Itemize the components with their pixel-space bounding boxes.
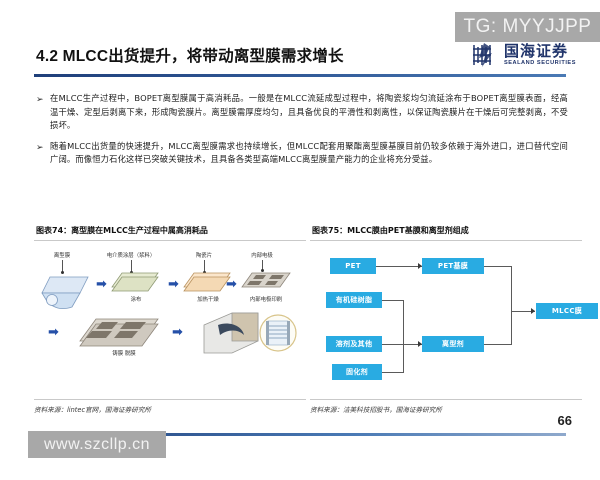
page-title: 4.2 MLCC出货提升，将带动离型膜需求增长 — [36, 44, 344, 66]
finished-capacitor-shape — [198, 307, 298, 359]
flow-connector — [511, 311, 512, 345]
figure-panel-75: 图表75：MLCC膜由PET基膜和离型剂组成 PET PET基膜 有机硅树脂 溶… — [310, 222, 582, 414]
watermark-bottom: www.szcllp.cn — [28, 431, 166, 458]
flow-connector — [382, 300, 404, 301]
page-number: 66 — [558, 413, 572, 428]
process-arrow-icon: ➡ — [168, 277, 179, 290]
paragraph: ➢ 随着MLCC出货量的快速提升，MLCC离型膜需求也持续增长，但MLCC配套用… — [36, 140, 568, 167]
diagram-label-ceramic-sheet: 陶瓷片 — [184, 251, 224, 259]
bullet-icon: ➢ — [36, 92, 50, 107]
printed-electrode-shape — [240, 267, 296, 293]
body-text: ➢ 在MLCC生产过程中，BOPET离型膜属于高消耗品。一般是在MLCC流延成型… — [36, 92, 568, 174]
figure-source: 资料来源：lintec官网，国海证券研究所 — [34, 399, 306, 414]
stacked-layers-shape — [78, 315, 166, 349]
figure-74-diagram: 离型膜 电介质涂层（浆料） 陶瓷片 内部电极 ➡ ➡ ➡ — [34, 241, 306, 384]
flow-node-release-agent[interactable]: 离型剂 — [422, 336, 484, 352]
flow-node-pet[interactable]: PET — [330, 258, 376, 274]
flow-node-solvent-other[interactable]: 溶剂及其他 — [326, 336, 382, 352]
figure-panel-74: 图表74：离型膜在MLCC生产过程中属高消耗品 离型膜 电介质涂层（浆料） 陶瓷… — [34, 222, 306, 414]
paragraph-text: 随着MLCC出货量的快速提升，MLCC离型膜需求也持续增长，但MLCC配套用聚酯… — [50, 140, 568, 167]
diagram-step-casting-stripping: 铸膜 脱膜 — [96, 349, 152, 357]
paragraph: ➢ 在MLCC生产过程中，BOPET离型膜属于高消耗品。一般是在MLCC流延成型… — [36, 92, 568, 133]
figure-caption: 图表75：MLCC膜由PET基膜和离型剂组成 — [310, 222, 582, 241]
diagram-step-coating: 涂布 — [116, 295, 156, 303]
diagram-step-electrode-printing: 内部电极印刷 — [238, 295, 294, 303]
diagram-label-inner-electrode: 内部电极 — [240, 251, 284, 259]
flow-connector — [484, 344, 512, 345]
flow-connector — [403, 300, 404, 344]
diagram-label-dielectric-coating: 电介质涂层（浆料） — [94, 251, 168, 259]
watermark-top: TG: MYYJJPP — [455, 12, 600, 42]
figure-source: 资料来源：洁美科技招股书，国海证券研究所 — [310, 399, 582, 414]
flow-node-mlcc-film[interactable]: MLCC膜 — [536, 303, 598, 319]
paragraph-text: 在MLCC生产过程中，BOPET离型膜属于高消耗品。一般是在MLCC流延成型过程… — [50, 92, 568, 133]
bullet-icon: ➢ — [36, 140, 50, 155]
process-arrow-icon: ➡ — [172, 325, 183, 338]
brand-logo: 国海证券 SEALAND SECURITIES — [470, 41, 576, 69]
flow-connector — [511, 266, 512, 311]
process-arrow-icon: ➡ — [96, 277, 107, 290]
diagram-label-release-film: 离型膜 — [42, 251, 82, 259]
flow-connector — [382, 372, 404, 373]
figure-caption: 图表74：离型膜在MLCC生产过程中属高消耗品 — [34, 222, 306, 241]
flow-connector — [484, 266, 512, 267]
process-arrow-icon: ➡ — [48, 325, 59, 338]
title-underline-rule — [34, 74, 566, 77]
ceramic-sheet-shape — [182, 269, 234, 293]
flow-connector — [403, 344, 404, 373]
flow-connector — [382, 344, 422, 345]
sealand-logo-icon — [470, 41, 498, 69]
flow-node-pet-base-film[interactable]: PET基膜 — [422, 258, 484, 274]
figure-75-flowchart: PET PET基膜 有机硅树脂 溶剂及其他 固化剂 离型剂 MLCC膜 — [310, 241, 582, 384]
flow-arrowhead — [531, 308, 535, 314]
release-film-shape — [38, 267, 96, 315]
coated-sheet-shape — [110, 269, 162, 293]
logo-text-en: SEALAND SECURITIES — [504, 61, 576, 67]
flow-connector — [376, 266, 422, 267]
logo-text-cn: 国海证券 — [504, 44, 576, 59]
page-header: 4.2 MLCC出货提升，将带动离型膜需求增长 国海证券 SEALAND SEC… — [0, 44, 600, 86]
flow-node-curing-agent[interactable]: 固化剂 — [332, 364, 382, 380]
diagram-step-drying: 加热干燥 — [186, 295, 230, 303]
flow-node-silicone-resin[interactable]: 有机硅树脂 — [326, 292, 382, 308]
